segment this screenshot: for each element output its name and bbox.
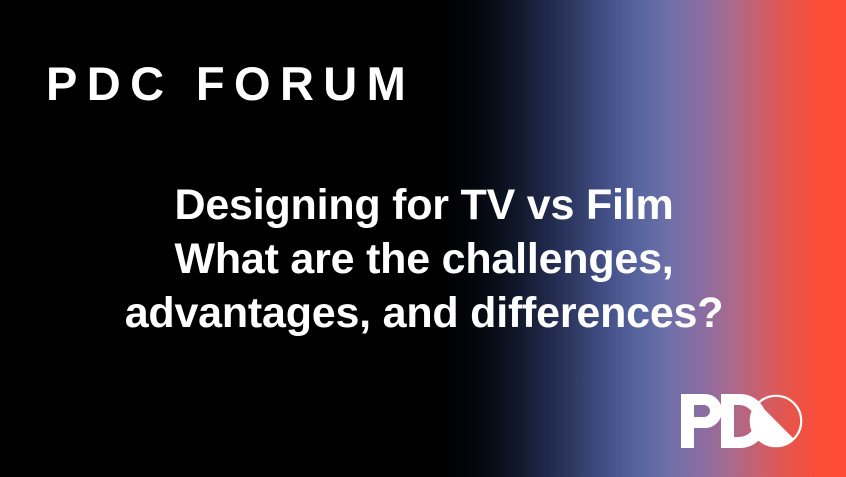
slide-headline: Designing for TV vs Film What are the ch… (46, 178, 802, 341)
logo-letter-p (681, 394, 722, 448)
headline-line-3: advantages, and differences? (46, 286, 802, 340)
headline-line-2: What are the challenges, (46, 232, 802, 286)
slide-kicker: PDC FORUM (46, 60, 415, 107)
brand-logo (681, 394, 803, 448)
presentation-slide: PDC FORUM Designing for TV vs Film What … (0, 0, 846, 477)
pd-circle-logo-icon (681, 394, 803, 448)
logo-circle-mark (751, 396, 801, 446)
headline-line-1: Designing for TV vs Film (46, 178, 802, 232)
